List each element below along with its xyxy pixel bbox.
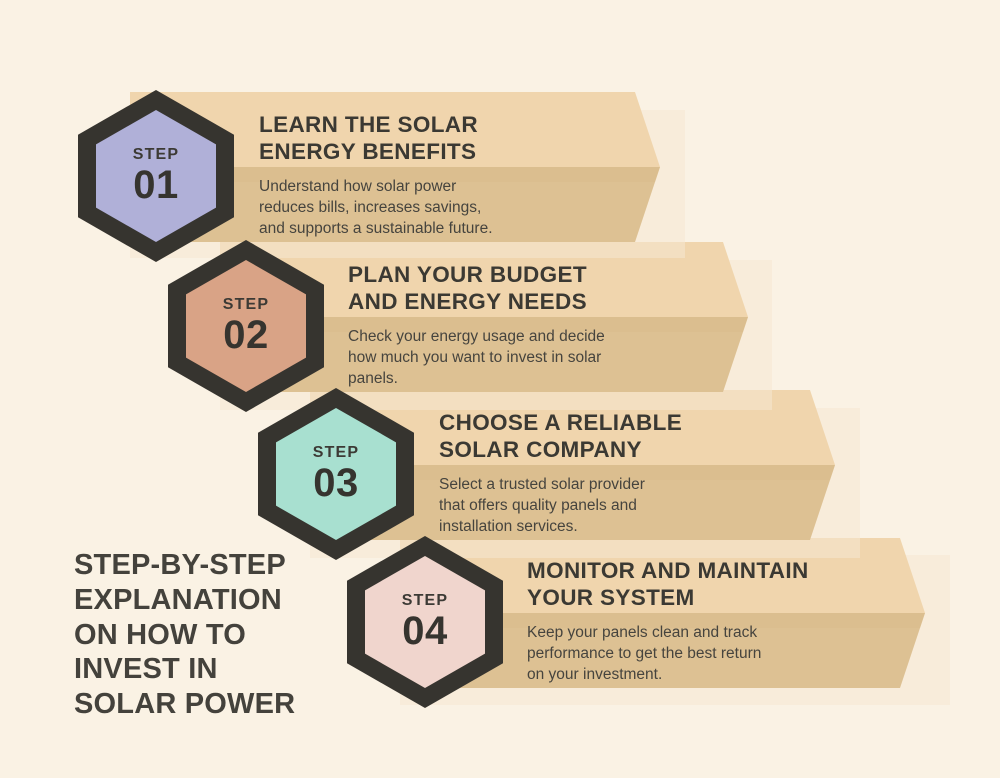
infographic-canvas: STEP 01 LEARN THE SOLAR ENERGY BENEFITS … <box>0 0 1000 778</box>
step-description-01: Understand how solar power reduces bills… <box>259 176 609 239</box>
step-title-03: CHOOSE A RELIABLE SOLAR COMPANY <box>439 409 799 464</box>
step-description-04: Keep your panels clean and track perform… <box>527 622 927 685</box>
step-text-03: CHOOSE A RELIABLE SOLAR COMPANY Select a… <box>439 409 799 537</box>
step-title-02: PLAN YOUR BUDGET AND ENERGY NEEDS <box>348 261 718 316</box>
step-description-03: Select a trusted solar provider that off… <box>439 474 799 537</box>
step-number-02: 02 <box>223 315 269 355</box>
step-badge-02[interactable]: STEP 02 <box>168 240 324 412</box>
step-description-02: Check your energy usage and decide how m… <box>348 326 718 389</box>
step-title-04: MONITOR AND MAINTAIN YOUR SYSTEM <box>527 557 927 612</box>
step-label-04: STEP <box>402 593 449 609</box>
step-label-02: STEP <box>223 297 270 313</box>
step-number-01: 01 <box>133 165 179 205</box>
step-text-04: MONITOR AND MAINTAIN YOUR SYSTEM Keep yo… <box>527 557 927 685</box>
step-number-04: 04 <box>402 611 448 651</box>
step-badge-03[interactable]: STEP 03 <box>258 388 414 560</box>
step-title-01: LEARN THE SOLAR ENERGY BENEFITS <box>259 111 609 166</box>
step-label-03: STEP <box>313 445 360 461</box>
step-text-02: PLAN YOUR BUDGET AND ENERGY NEEDS Check … <box>348 261 718 389</box>
page-title: STEP-BY-STEP EXPLANATION ON HOW TO INVES… <box>74 548 344 722</box>
step-label-01: STEP <box>133 147 180 163</box>
step-text-01: LEARN THE SOLAR ENERGY BENEFITS Understa… <box>259 111 609 239</box>
step-number-03: 03 <box>313 463 359 503</box>
step-badge-01[interactable]: STEP 01 <box>78 90 234 262</box>
step-badge-04[interactable]: STEP 04 <box>347 536 503 708</box>
